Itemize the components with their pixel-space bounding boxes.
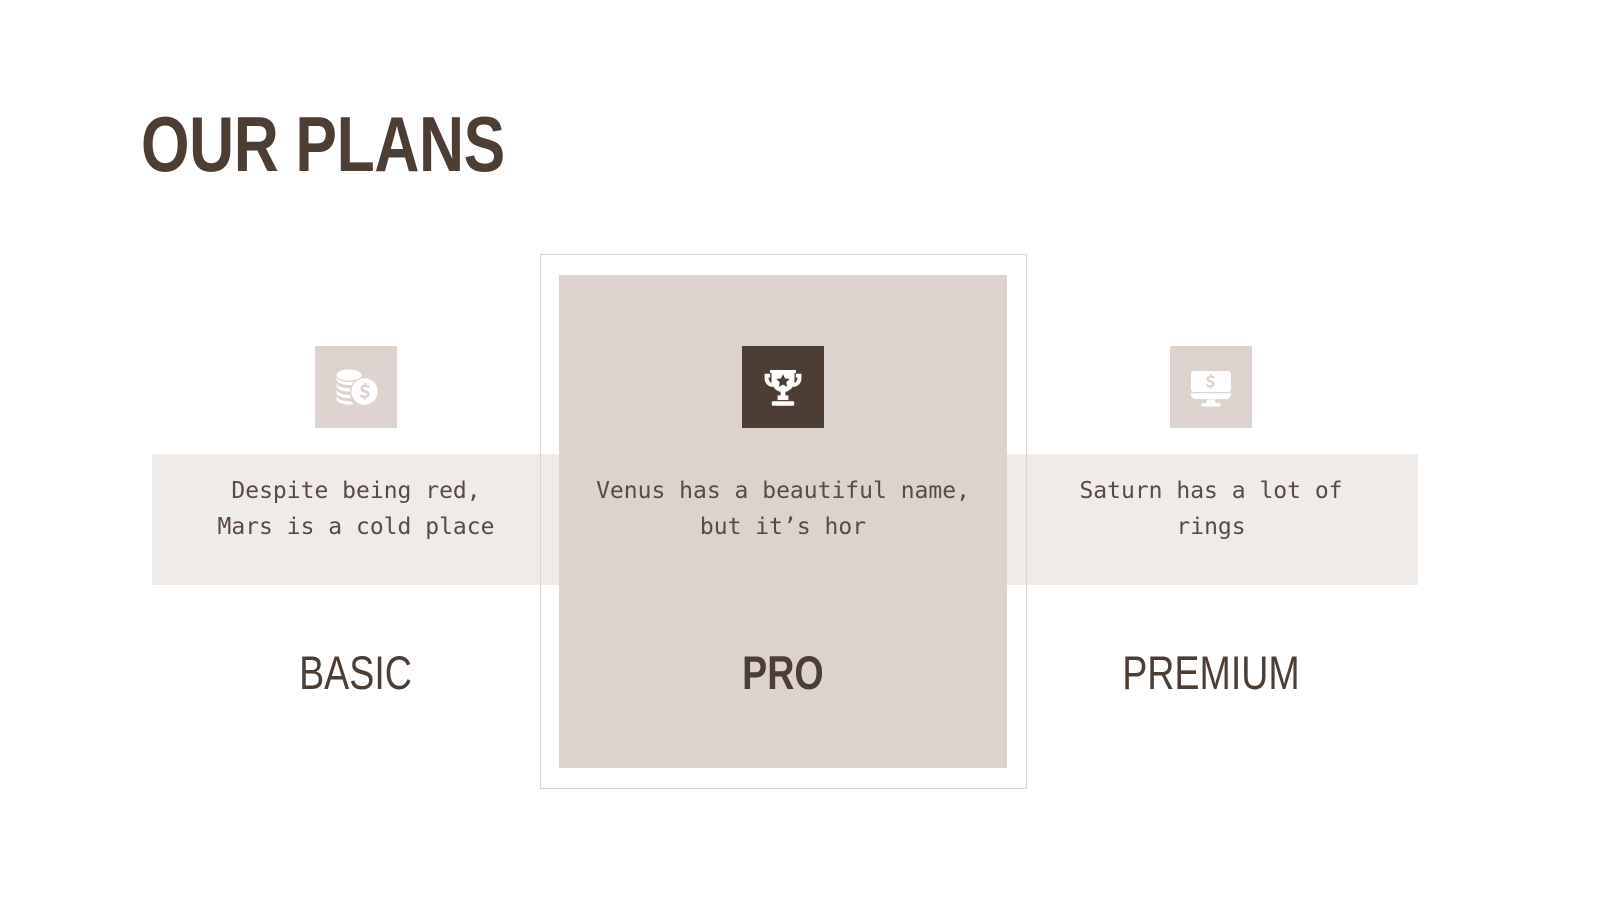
plan-name-basic: BASIC: [156, 645, 556, 701]
plan-description: Venus has a beautiful name, but it’s hor: [551, 473, 1015, 545]
plan-description: Saturn has a lot of rings: [981, 473, 1441, 545]
plan-description: Despite being red, Mars is a cold place: [126, 473, 586, 545]
page-title: OUR PLANS: [141, 103, 505, 185]
plan-name-pro: PRO: [583, 645, 983, 701]
monitor-dollar-icon: [1170, 346, 1252, 428]
plan-name-text: PREMIUM: [1122, 645, 1300, 701]
plan-name-text: PRO: [742, 645, 823, 701]
trophy-star-icon: [742, 346, 824, 428]
plan-name-text: BASIC: [300, 645, 413, 701]
plan-name-premium: PREMIUM: [1011, 645, 1411, 701]
coins-stack-dollar-icon: [315, 346, 397, 428]
pricing-slide: OUR PLANS Despite being red, Mars is a c…: [0, 0, 1600, 900]
